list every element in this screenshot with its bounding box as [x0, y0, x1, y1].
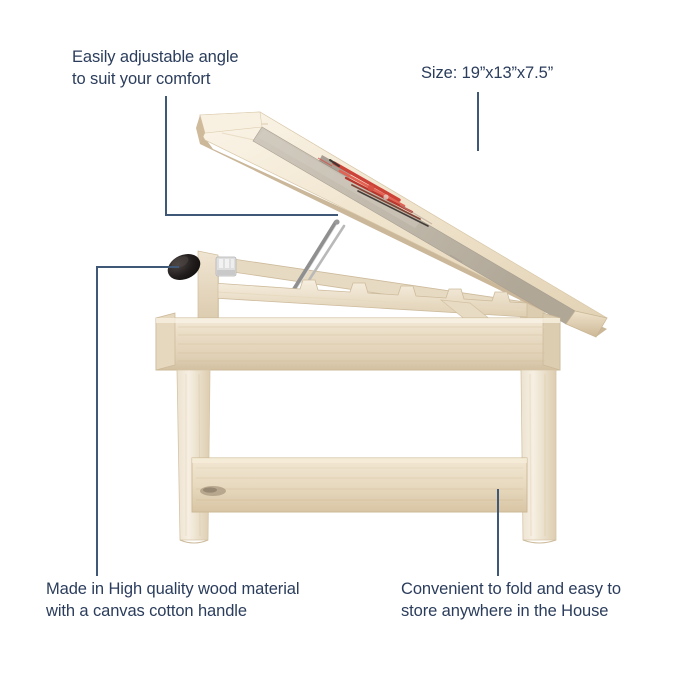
leader-line-wood [97, 267, 178, 575]
leader-line-angle [166, 97, 337, 215]
leader-lines [0, 0, 693, 693]
product-infographic: Easily adjustable angle to suit your com… [0, 0, 693, 693]
